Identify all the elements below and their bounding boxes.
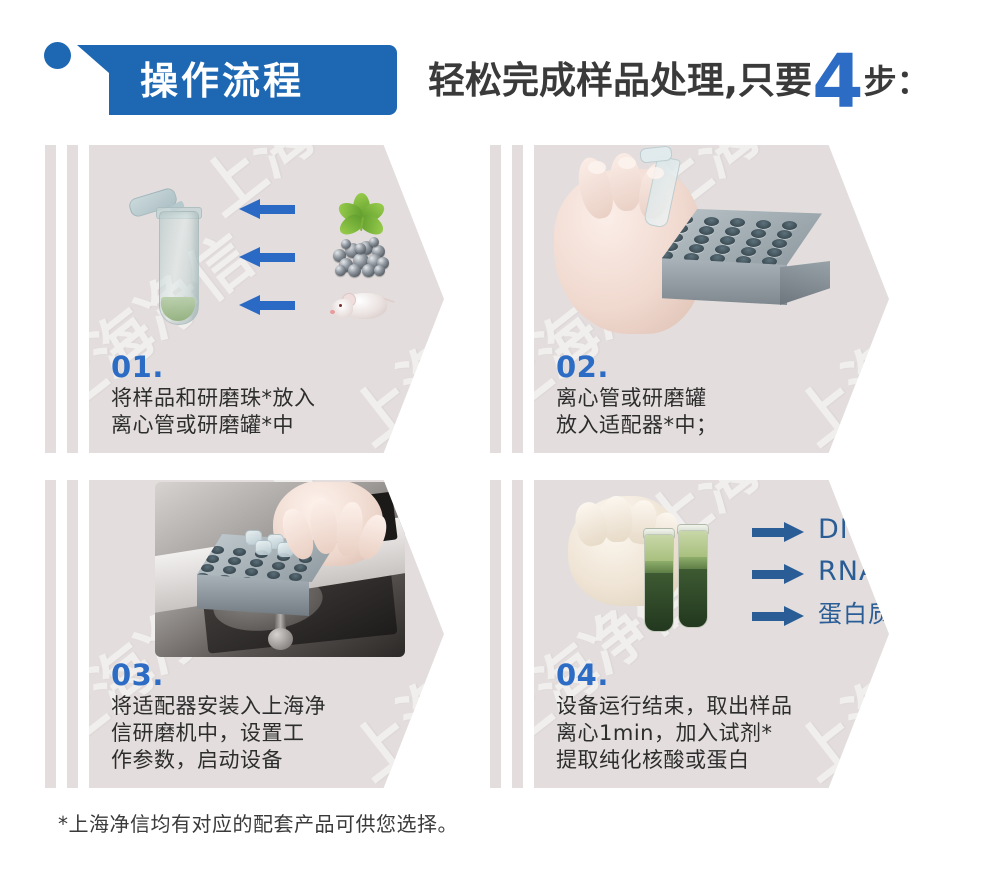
adapter-well xyxy=(289,573,302,581)
step-text-line: 离心1min，加入试剂* xyxy=(556,720,866,747)
adapter-well xyxy=(772,239,787,248)
headline-suffix: 步： xyxy=(864,62,930,101)
gloved-hand-vials-photo xyxy=(568,490,768,660)
output-row-protein: 蛋白质 xyxy=(752,600,889,634)
steps-grid: 上海净信 上海净信 上海净信 xyxy=(0,140,1000,800)
step-03-text: 03. 将适配器安装入上海净 信研磨机中，设置工 作参数，启动设备 xyxy=(111,659,421,774)
arrow-left-icon xyxy=(239,199,295,219)
infographic-page: 操作流程 轻松完成样品处理,只要4步： 上海净信 上海净信 上海净信 xyxy=(0,0,1000,875)
banner-title: 操作流程 xyxy=(140,52,390,110)
arrow-left-icon xyxy=(239,295,295,315)
arrow-right-icon xyxy=(752,606,804,626)
centrifuge-tube-icon xyxy=(151,193,197,323)
step-text-line: 放入适配器*中； xyxy=(556,412,866,439)
adapter-well xyxy=(730,218,745,227)
banner-dot-icon xyxy=(44,42,71,69)
footer-note: *上海净信均有对应的配套产品可供您选择。 xyxy=(58,808,458,837)
adapter-well xyxy=(678,215,693,224)
sample-vial-icon xyxy=(644,534,674,632)
leaf-icon xyxy=(329,187,393,233)
step-card-04: 上海净信 上海净信 上海净信 xyxy=(490,475,935,795)
adapter-well xyxy=(663,242,678,251)
adapter-well xyxy=(741,247,756,256)
adapter-well xyxy=(668,233,683,242)
adapter-well xyxy=(694,235,709,244)
step-text-line: 离心管或研磨罐 xyxy=(556,385,866,412)
adapter-well xyxy=(250,559,263,567)
adapter-block-icon xyxy=(662,209,822,305)
adapter-well xyxy=(267,571,280,579)
sample-row-beads xyxy=(239,241,429,275)
card-body: 上海净信 上海净信 上海净信 xyxy=(89,145,444,453)
fingernail-shape xyxy=(647,167,664,179)
adapter-well xyxy=(704,217,719,226)
grinder-machine-photo xyxy=(155,482,405,657)
card-bar-inner xyxy=(67,145,78,453)
step-text-line: 信研磨机中，设置工 xyxy=(111,720,421,747)
adapter-well xyxy=(751,229,766,238)
mouse-icon xyxy=(329,283,393,329)
step-card-02: 上海净信 上海净信 上海净信 xyxy=(490,140,935,460)
step-01-text: 01. 将样品和研磨珠*放入 离心管或研磨罐*中 xyxy=(111,351,421,439)
sample-vial-icon xyxy=(678,530,708,628)
step-text-line: 设备运行结束，取出样品 xyxy=(556,693,866,720)
step-text-line: 作参数，启动设备 xyxy=(111,747,421,774)
adapter-well xyxy=(782,221,797,230)
card-bar-outer xyxy=(45,145,56,453)
step-number: 02. xyxy=(556,351,866,383)
adapter-well xyxy=(233,548,246,556)
sample-row-animal xyxy=(239,289,429,323)
output-row-dna: DNA xyxy=(752,516,889,550)
card-bar-inner xyxy=(512,480,523,788)
adapter-well xyxy=(201,564,214,572)
arrow-right-icon xyxy=(752,564,804,584)
adapter-well xyxy=(245,568,258,576)
machine-knob xyxy=(268,628,293,650)
adapter-well xyxy=(777,230,792,239)
tube-cap-icon xyxy=(255,540,272,555)
card-bar-inner xyxy=(67,480,78,788)
adapter-well xyxy=(228,557,241,565)
adapter-well xyxy=(699,226,714,235)
adapter-well xyxy=(206,555,219,563)
card-bar-inner xyxy=(512,145,523,453)
card-bar-outer xyxy=(490,480,501,788)
sample-row-plant xyxy=(239,193,429,227)
adapter-well xyxy=(746,238,761,247)
fingernail-shape xyxy=(588,161,606,174)
adapter-well xyxy=(673,224,688,233)
arrow-left-icon xyxy=(239,247,295,267)
step-number: 01. xyxy=(111,351,421,383)
step-text-line: 将适配器安装入上海净 xyxy=(111,693,421,720)
step-text-line: 将样品和研磨珠*放入 xyxy=(111,385,421,412)
adapter-well xyxy=(272,562,285,570)
headline-number: 4 xyxy=(812,39,864,125)
headline-prefix: 轻松完成样品处理,只要 xyxy=(428,59,812,102)
card-bar-outer xyxy=(45,480,56,788)
card-body: 上海净信 上海净信 上海净信 xyxy=(534,145,889,453)
step-02-illustration xyxy=(534,145,889,355)
adapter-well xyxy=(294,564,307,572)
adapter-well xyxy=(223,566,236,574)
output-label: DNA xyxy=(818,513,880,547)
card-body: 上海净信 上海净信 上海净信 xyxy=(89,480,444,788)
adapter-well xyxy=(715,245,730,254)
card-body: 上海净信 上海净信 上海净信 xyxy=(534,480,889,788)
step-04-text: 04. 设备运行结束，取出样品 离心1min，加入试剂* 提取纯化核酸或蛋白 xyxy=(556,659,866,774)
step-02-text: 02. 离心管或研磨罐 放入适配器*中； xyxy=(556,351,866,439)
grinding-beads-icon xyxy=(329,235,393,281)
step-number: 03. xyxy=(111,659,421,691)
page-headline: 轻松完成样品处理,只要4步： xyxy=(428,52,930,111)
step-card-03: 上海净信 上海净信 上海净信 xyxy=(45,475,490,795)
step-number: 04. xyxy=(556,659,866,691)
arrow-right-icon xyxy=(752,522,804,542)
output-row-rna: RNA xyxy=(752,558,889,592)
output-label: 蛋白质 xyxy=(818,597,889,631)
adapter-well xyxy=(767,248,782,257)
hand-holding-adapter-photo xyxy=(554,151,844,351)
step-01-illustration xyxy=(89,145,444,355)
card-bar-outer xyxy=(490,145,501,453)
page-header: 操作流程 轻松完成样品处理,只要4步： xyxy=(0,0,1000,140)
adapter-well xyxy=(689,244,704,253)
adapter-well xyxy=(725,227,740,236)
adapter-well xyxy=(720,236,735,245)
step-card-01: 上海净信 上海净信 上海净信 xyxy=(45,140,490,460)
adapter-well xyxy=(211,546,224,554)
step-text-line: 提取纯化核酸或蛋白 xyxy=(556,747,866,774)
fingernail-shape xyxy=(618,157,636,169)
output-label: RNA xyxy=(818,555,878,589)
step-text-line: 离心管或研磨罐*中 xyxy=(111,412,421,439)
adapter-well xyxy=(756,220,771,229)
